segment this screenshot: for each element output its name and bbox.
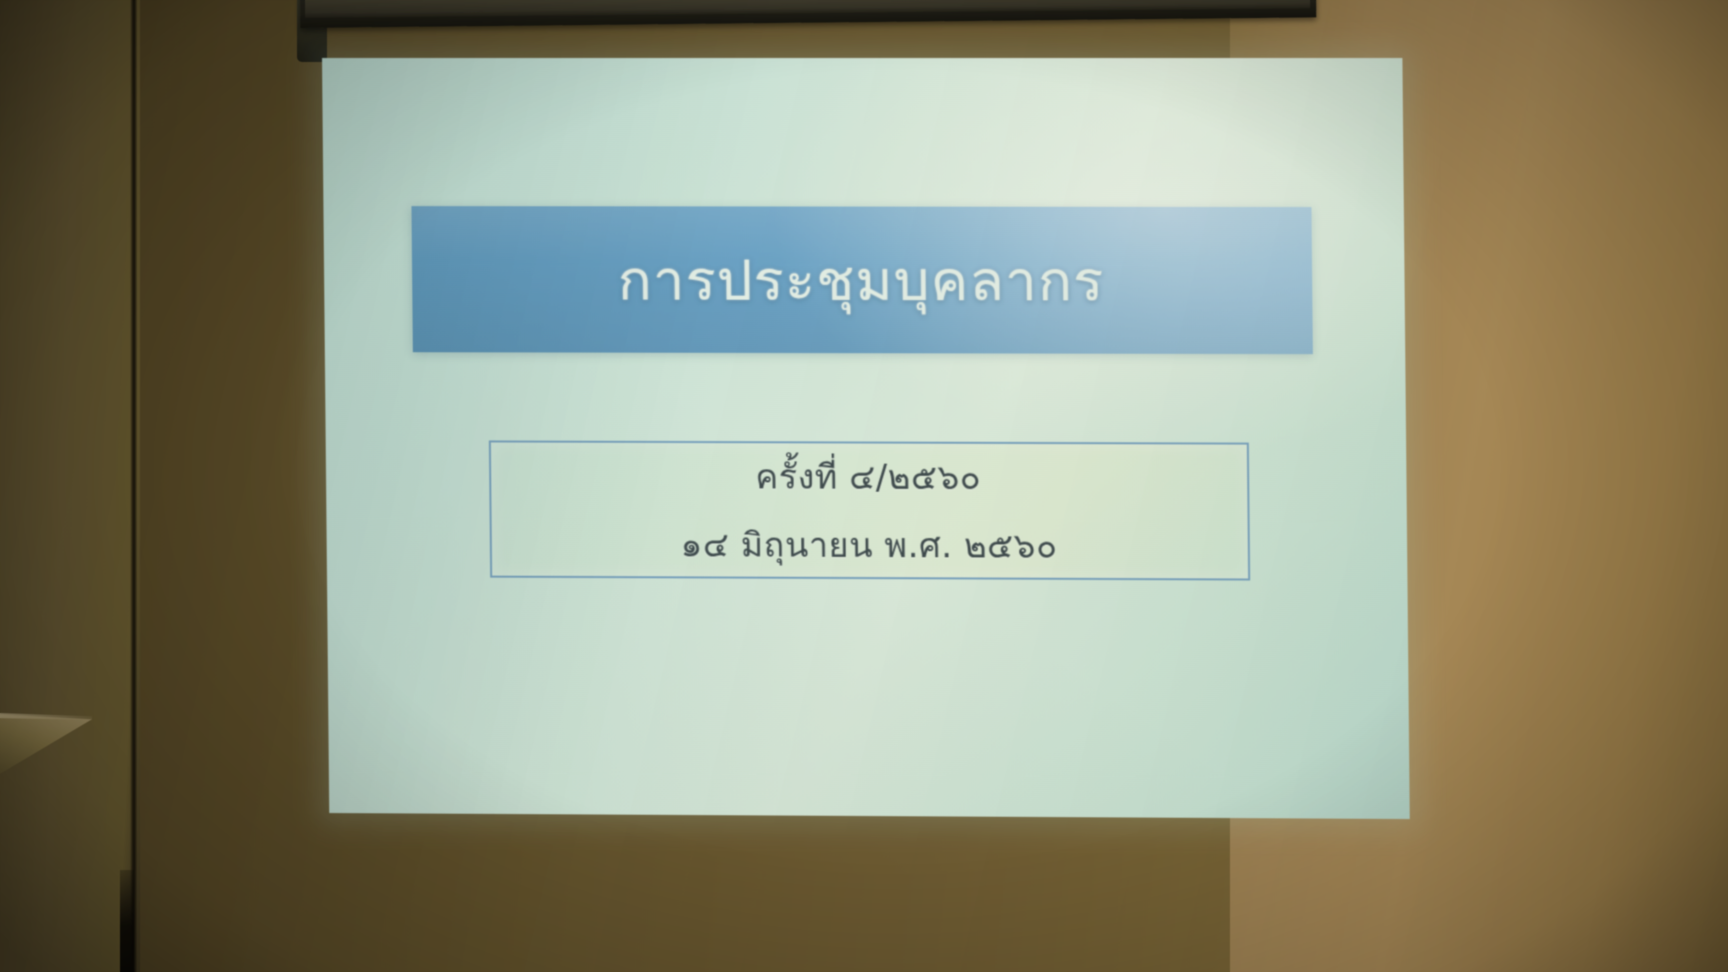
slide-subtitle-line-occurrence: ครั้งที่ ๔/๒๕๖๐ <box>755 449 981 504</box>
slide-title-band: การประชุมบุคลากร <box>411 206 1312 354</box>
slide-title-text: การประชุมบุคลากร <box>617 235 1104 325</box>
slide-subtitle-box: ครั้งที่ ๔/๒๕๖๐ ๑๔ มิถุนายน พ.ศ. ๒๕๖๐ <box>489 440 1250 580</box>
slide-subtitle-line-date: ๑๔ มิถุนายน พ.ศ. ๒๕๖๐ <box>680 517 1057 573</box>
slide-background <box>322 58 1410 819</box>
room-photo: การประชุมบุคลากร ครั้งที่ ๔/๒๕๖๐ ๑๔ มิถุ… <box>0 0 1728 972</box>
projected-slide: การประชุมบุคลากร ครั้งที่ ๔/๒๕๖๐ ๑๔ มิถุ… <box>322 58 1410 819</box>
door-frame-seam-bottom <box>120 870 134 972</box>
wall-left-panel <box>0 0 140 972</box>
door-frame-seam <box>130 0 137 972</box>
